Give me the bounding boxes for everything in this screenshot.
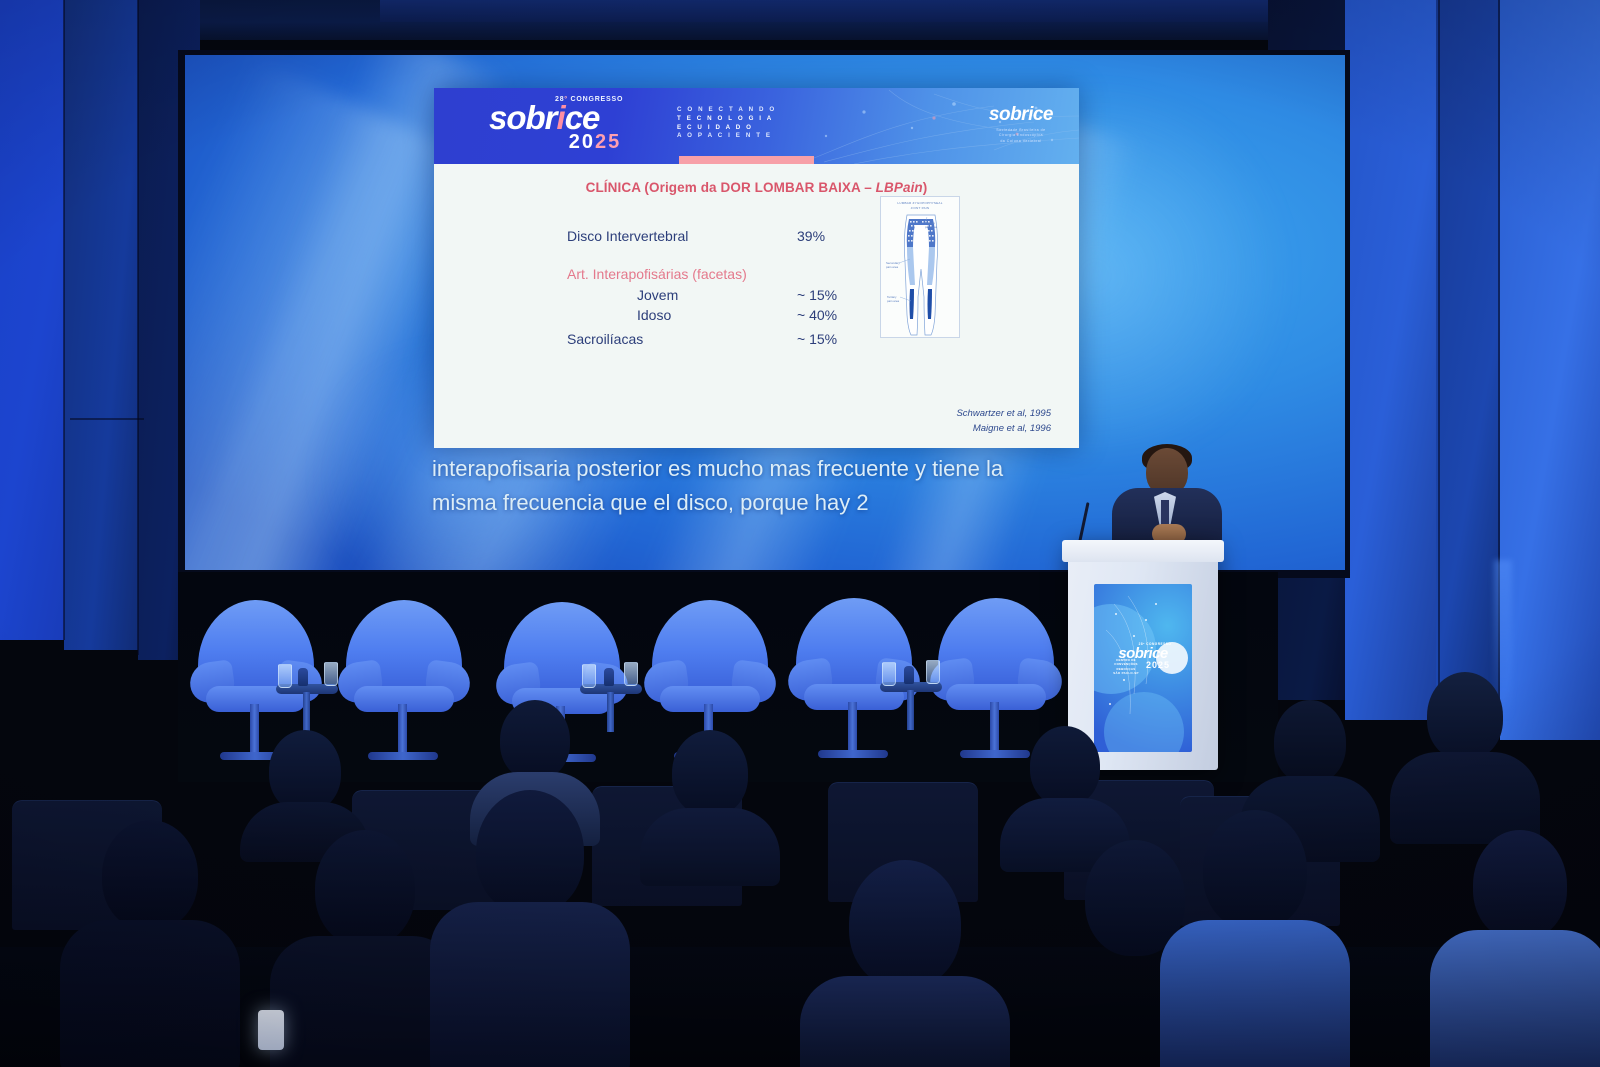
pain-distribution-diagram: LUMBAR ZYGOPOPHYSEAL JOINT PAIN: [880, 196, 960, 338]
slide-references: Schwartzer et al, 1995 Maigne et al, 199…: [956, 406, 1051, 436]
sobrice-society-logo: sobrice Sociedade Brasileira de Cirurgia…: [989, 104, 1053, 144]
slide-title: CLÍNICA (Origem da DOR LOMBAR BAIXA – LB…: [434, 180, 1079, 195]
finding-value: 39%: [797, 226, 877, 246]
caption-line-1: interapofisaria posterior es mucho mas f…: [432, 452, 1052, 486]
list-item: Jovem ~ 15%: [567, 285, 877, 305]
reference-item: Maigne et al, 1996: [956, 421, 1051, 436]
slide-body: CLÍNICA (Origem da DOR LOMBAR BAIXA – LB…: [434, 164, 1079, 448]
phone-screen: [258, 1010, 284, 1050]
podium-logo: 28º CONGRESSO sobrice 2025 CENTRO DE CON…: [1094, 642, 1192, 675]
finding-value: ~ 40%: [797, 305, 877, 325]
stage-chair: [930, 598, 1062, 716]
wall-seam: [63, 0, 65, 640]
finding-label: Idoso: [567, 305, 797, 325]
finding-label: Art. Interapofisárias (facetas): [567, 264, 797, 284]
findings-list: Disco Intervertebral 39% Art. Interapofi…: [567, 226, 877, 349]
tagline-line-3: E C U I D A D O: [677, 124, 776, 133]
stage-chair: [338, 600, 470, 718]
list-item: Idoso ~ 40%: [567, 305, 877, 325]
finding-label: Disco Intervertebral: [567, 226, 797, 246]
live-caption-overlay: interapofisaria posterior es mucho mas f…: [432, 452, 1052, 520]
tagline-line-4: A O P A C I E N T E: [677, 132, 776, 141]
speaker-person: [1108, 448, 1224, 548]
stage-chair: [644, 600, 776, 718]
finding-value: [797, 264, 877, 284]
finding-value: ~ 15%: [797, 285, 877, 305]
water-glass: [278, 664, 292, 688]
audience-member: [800, 860, 1010, 1067]
water-glass: [882, 662, 896, 686]
diagram-label-primary: Primary pain area: [925, 221, 937, 229]
diagram-label-tertiary: Tertiary pain area: [887, 295, 899, 303]
congress-tagline: C O N E C T A N D O T E C N O L O G I A …: [677, 106, 776, 141]
finding-label: Jovem: [567, 285, 797, 305]
diagram-title: LUMBAR ZYGOPOPHYSEAL JOINT PAIN: [881, 201, 959, 210]
tagline-line-2: T E C N O L O G I A: [677, 115, 776, 124]
list-item: Sacroilíacas ~ 15%: [567, 329, 877, 349]
audience-member: [1160, 810, 1350, 1067]
water-glass: [926, 660, 940, 684]
podium-top-surface: [1062, 540, 1224, 562]
wall-panel-right-a: [1345, 0, 1440, 720]
wall-seam: [1438, 0, 1440, 720]
water-bottle: [604, 668, 614, 686]
reference-item: Schwartzer et al, 1995: [956, 406, 1051, 421]
audience-member: [640, 730, 780, 880]
society-subtitle: Sociedade Brasileira de Cirurgia Endoscó…: [989, 128, 1053, 144]
wall-seam: [70, 418, 144, 420]
sobrice-wordmark: sobrice: [489, 103, 623, 133]
water-glass: [582, 664, 596, 688]
presentation-slide: 28º CONGRESSO sobrice 2025 C O N E C T A…: [434, 88, 1079, 448]
audience-member: [1390, 672, 1540, 842]
list-item: Art. Interapofisárias (facetas): [567, 264, 877, 284]
wall-panel-right-c: [1500, 0, 1600, 740]
diagram-label-secondary: Secondary pain area: [886, 261, 900, 269]
tagline-line-1: C O N E C T A N D O: [677, 106, 776, 115]
slide-header: 28º CONGRESSO sobrice 2025 C O N E C T A…: [434, 88, 1079, 164]
list-item: Disco Intervertebral 39%: [567, 226, 877, 246]
finding-label: Sacroilíacas: [567, 329, 797, 349]
water-bottle: [298, 668, 308, 686]
wall-seam: [137, 0, 139, 655]
society-wordmark: sobrice: [989, 104, 1053, 126]
audience-member: [60, 820, 240, 1067]
accent-bar: [679, 156, 814, 164]
audience-member: [1430, 830, 1600, 1067]
audience-member: [430, 790, 630, 1067]
auditorium-scene: 28º CONGRESSO sobrice 2025 C O N E C T A…: [0, 0, 1600, 1067]
sobrice-logo: 28º CONGRESSO sobrice 2025: [489, 96, 623, 154]
wall-panel-left-mid: [64, 0, 144, 650]
water-glass: [624, 662, 638, 686]
water-bottle: [904, 666, 914, 684]
finding-value: ~ 15%: [797, 329, 877, 349]
caption-line-2: misma frecuencia que el disco, porque ha…: [432, 486, 1052, 520]
water-glass: [324, 662, 338, 686]
